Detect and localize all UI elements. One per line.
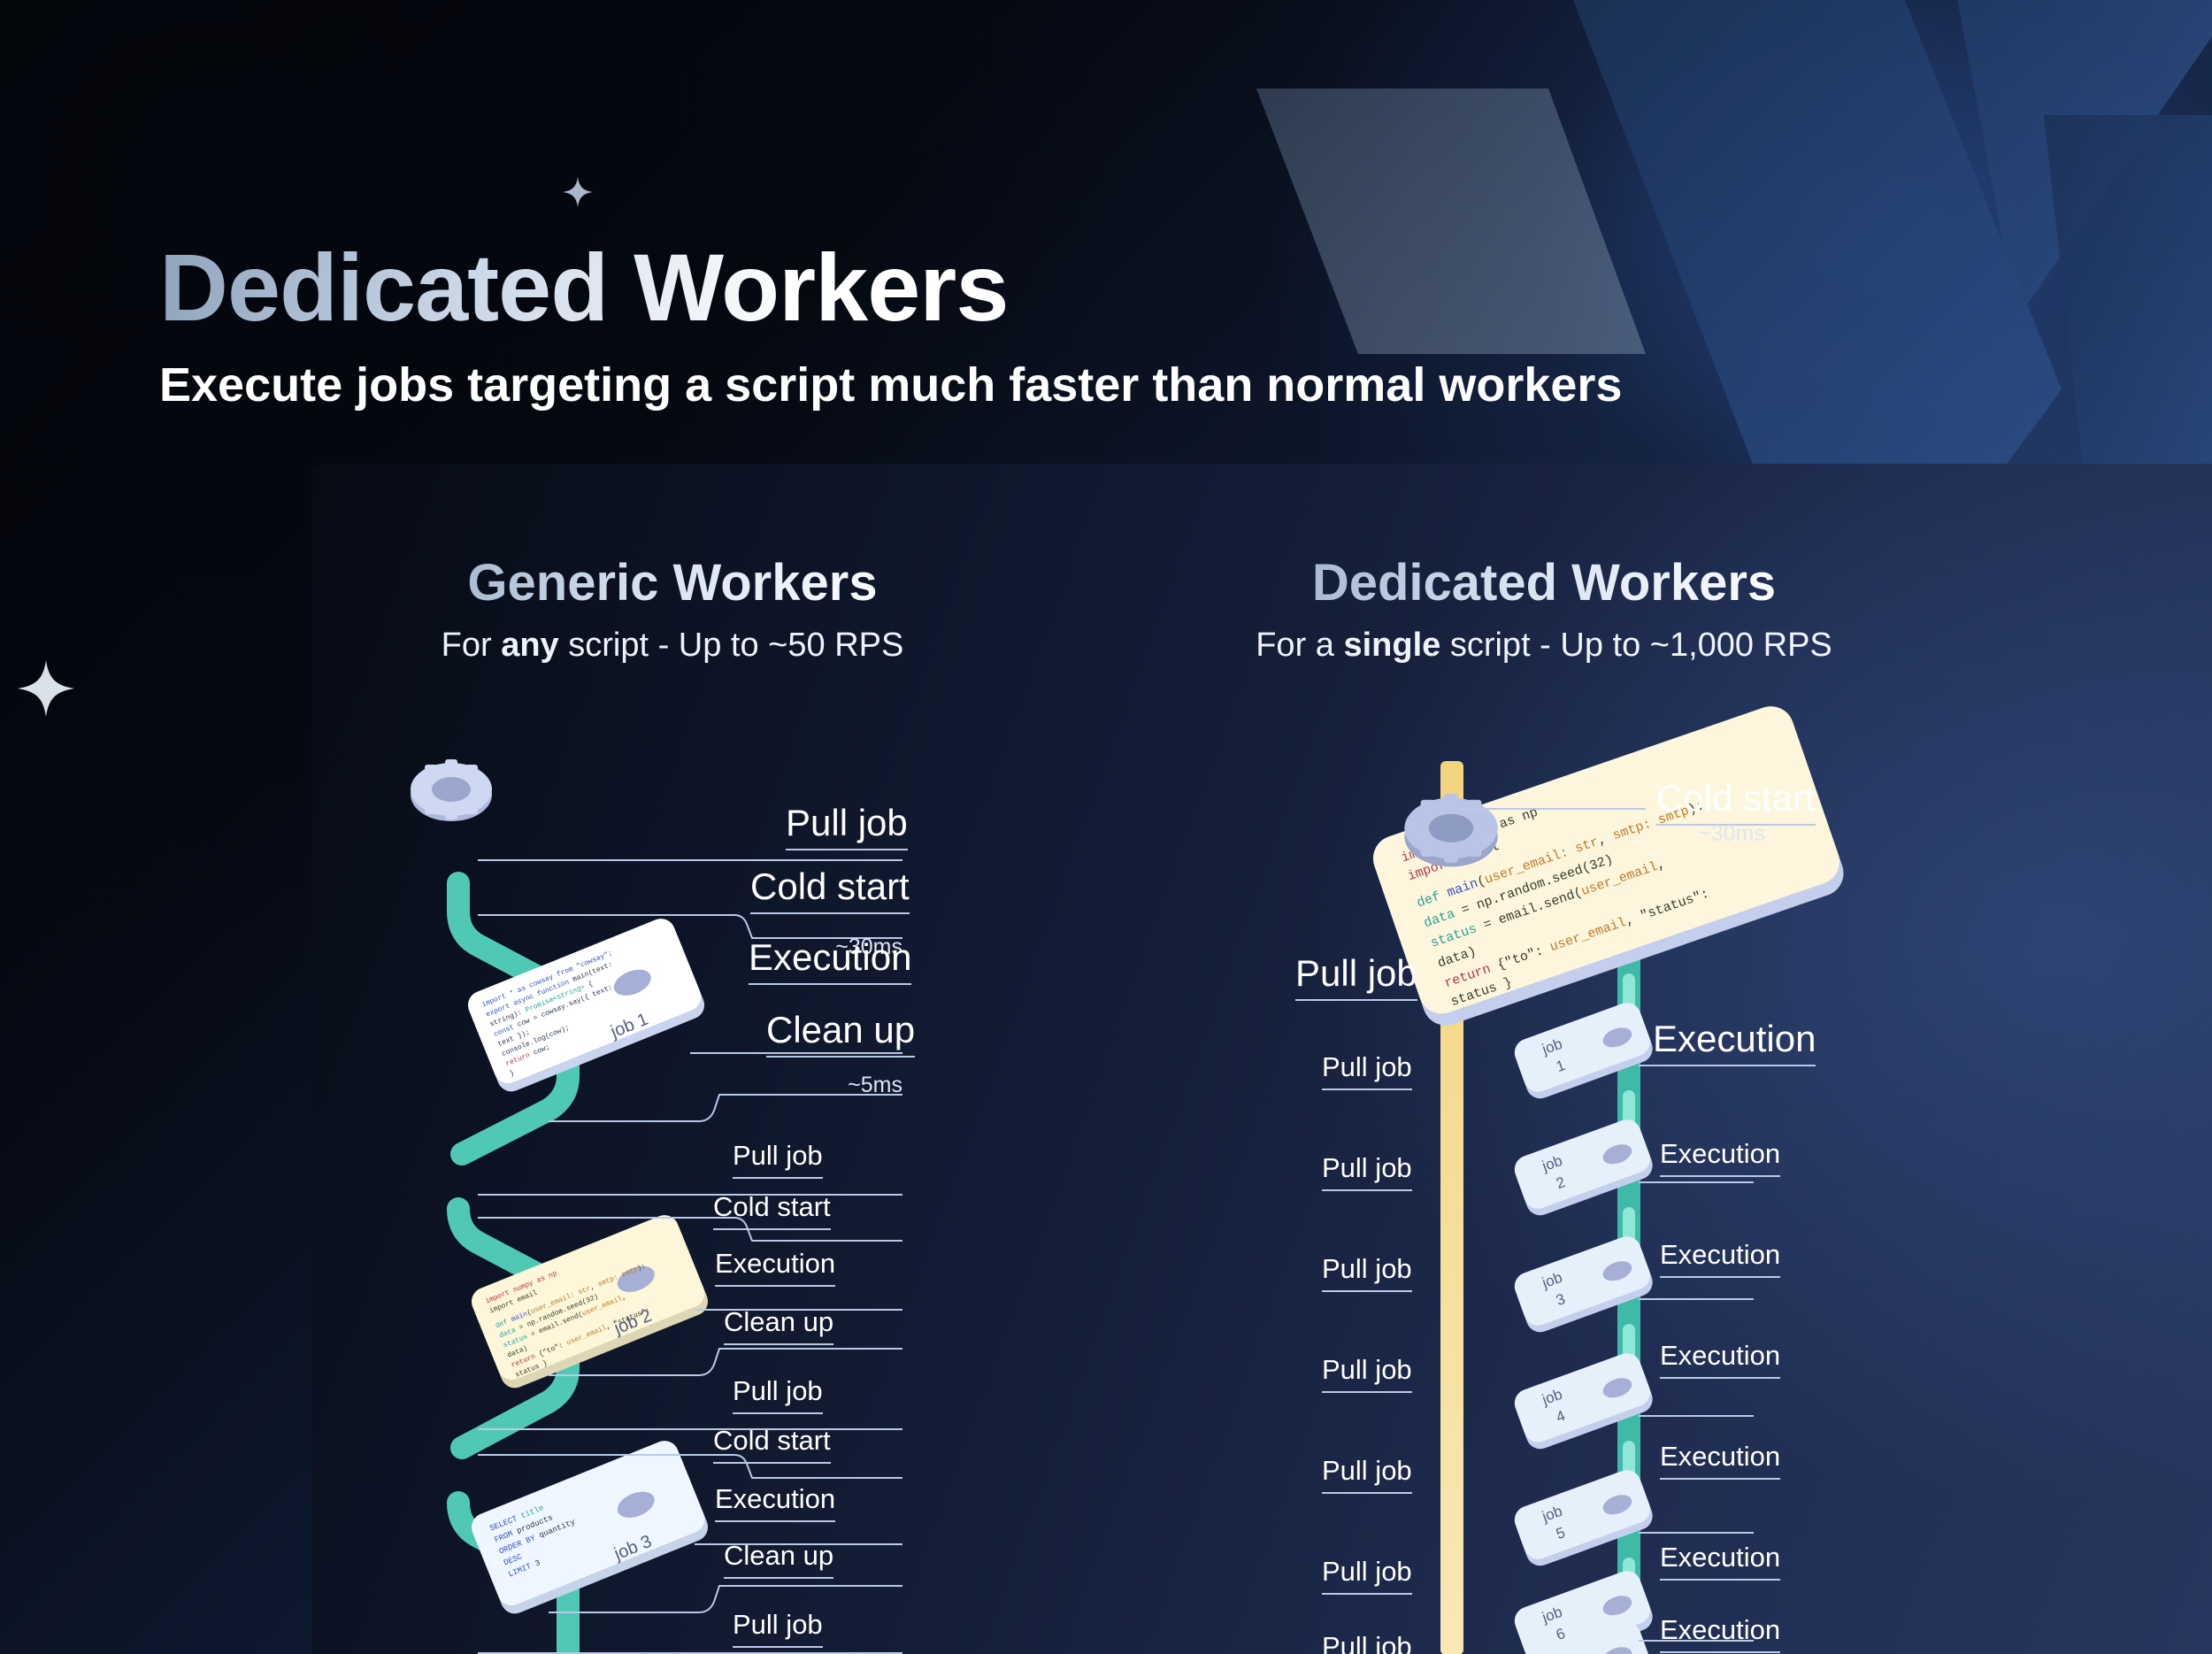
step-label-clean-up: Clean up: [724, 1542, 833, 1579]
step-label-clean-up: Clean up: [766, 1011, 915, 1058]
step-label-pull-job: Pull job: [1322, 1633, 1412, 1654]
infographic-stage: Dedicated Workers Execute jobs targeting…: [0, 0, 2212, 1654]
step-label-pull-job: Pull job: [1295, 954, 1417, 1001]
leader-line: [1639, 1527, 1754, 1538]
step-label-execution: Execution: [1660, 1241, 1780, 1278]
leader-line: [1639, 1411, 1754, 1421]
leader-line: [478, 1186, 902, 1200]
gear-icon: [409, 754, 494, 827]
step-label-execution: Execution: [715, 1250, 835, 1287]
leader-line: [549, 1575, 902, 1616]
job-tag: job 3: [1504, 1234, 1663, 1331]
gear-icon: [1402, 788, 1500, 871]
step-label-pull-job: Pull job: [1322, 1356, 1412, 1393]
leader-line: [478, 1420, 902, 1435]
job-tag: job 5: [1504, 1467, 1663, 1565]
step-label-execution: Execution: [715, 1485, 835, 1522]
column-header-dedicated: Dedicated Workers For a single script - …: [1217, 553, 1871, 665]
step-label-cold-start: Cold start: [1656, 779, 1816, 826]
subtitle-emphasis: any: [501, 627, 558, 664]
step-label-pull-job: Pull job: [733, 1611, 823, 1648]
step-detail-clean-up: ~5ms: [761, 1073, 902, 1098]
leader-line: [478, 1451, 902, 1487]
step-label-execution: Execution: [1660, 1442, 1780, 1480]
job-tag: job 2: [1504, 1117, 1663, 1214]
step-label-execution: Execution: [1653, 1019, 1816, 1066]
page-subtitle: Execute jobs targeting a script much fas…: [159, 358, 1622, 412]
step-label-execution: Execution: [1660, 1342, 1780, 1379]
leader-line: [478, 1648, 902, 1654]
step-label-pull-job: Pull job: [1322, 1457, 1412, 1494]
step-detail-cold-start: ~30ms: [1656, 821, 1807, 847]
leader-line: [1639, 1294, 1754, 1304]
column-subtitle-dedicated: For a single script - Up to ~1,000 RPS: [1217, 627, 1871, 665]
step-label-pull-job: Pull job: [1322, 1053, 1412, 1090]
step-label-execution: Execution: [1660, 1616, 1780, 1653]
job-tag: job 4: [1504, 1350, 1663, 1448]
subtitle-prefix: For a: [1256, 627, 1343, 664]
dedicated-script-card: import numpy as np import email def main…: [1363, 726, 1858, 1018]
column-title-generic: Generic Workers: [372, 553, 973, 612]
step-label-execution: Execution: [1660, 1543, 1780, 1581]
step-label-pull-job: Pull job: [786, 804, 908, 850]
step-label-clean-up: Clean up: [724, 1308, 833, 1345]
subtitle-suffix: script - Up to ~1,000 RPS: [1440, 627, 1832, 664]
subtitle-prefix: For: [442, 627, 502, 664]
subtitle-emphasis: single: [1343, 627, 1440, 664]
leader-line: [1639, 1177, 1754, 1188]
leader-line: [1451, 804, 1646, 814]
step-label-execution: Execution: [749, 938, 911, 985]
step-label-pull-job: Pull job: [733, 1377, 823, 1414]
leader-line: [478, 850, 902, 864]
step-label-pull-job: Pull job: [1322, 1255, 1412, 1292]
column-title-dedicated: Dedicated Workers: [1217, 553, 1871, 612]
step-label-cold-start: Cold start: [713, 1193, 831, 1230]
step-label-pull-job: Pull job: [1322, 1558, 1412, 1595]
job-tag: job 1: [1504, 1000, 1663, 1097]
step-label-pull-job: Pull job: [1322, 1154, 1412, 1191]
leader-line: [478, 1214, 902, 1250]
page-title: Dedicated Workers: [159, 232, 1008, 342]
step-label-cold-start: Cold start: [713, 1427, 831, 1464]
subtitle-suffix: script - Up to ~50 RPS: [559, 627, 904, 664]
step-label-pull-job: Pull job: [733, 1142, 823, 1179]
step-label-cold-start: Cold start: [750, 867, 910, 914]
column-header-generic: Generic Workers For any script - Up to ~…: [372, 553, 973, 665]
step-label-execution: Execution: [1660, 1140, 1780, 1177]
column-subtitle-generic: For any script - Up to ~50 RPS: [372, 627, 973, 665]
